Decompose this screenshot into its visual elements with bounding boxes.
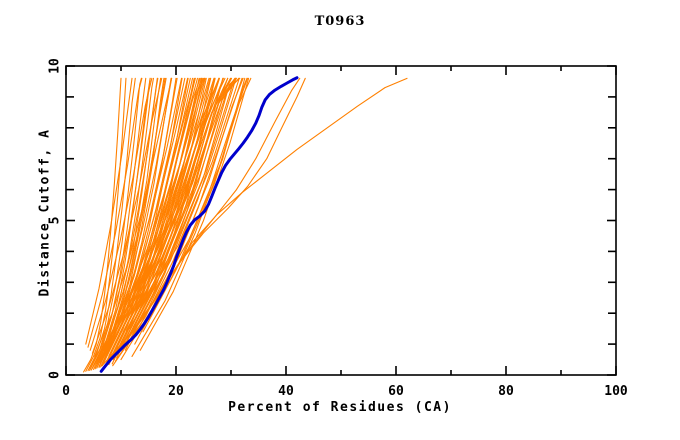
y-tick-label: 0 [48,371,63,379]
x-tick-label: 80 [498,384,514,399]
plot-canvas: 0204060801000510 [0,0,680,440]
x-tick-label: 0 [62,384,70,399]
x-tick-label: 20 [168,384,184,399]
plot-figure: T0963 Distance Cutoff, A Percent of Resi… [0,0,680,440]
data-series-layer [84,78,407,372]
x-tick-label: 40 [278,384,294,399]
x-tick-label: 60 [388,384,404,399]
y-tick-label: 5 [48,217,63,225]
x-tick-label: 100 [604,384,628,399]
y-tick-label: 10 [48,58,63,74]
